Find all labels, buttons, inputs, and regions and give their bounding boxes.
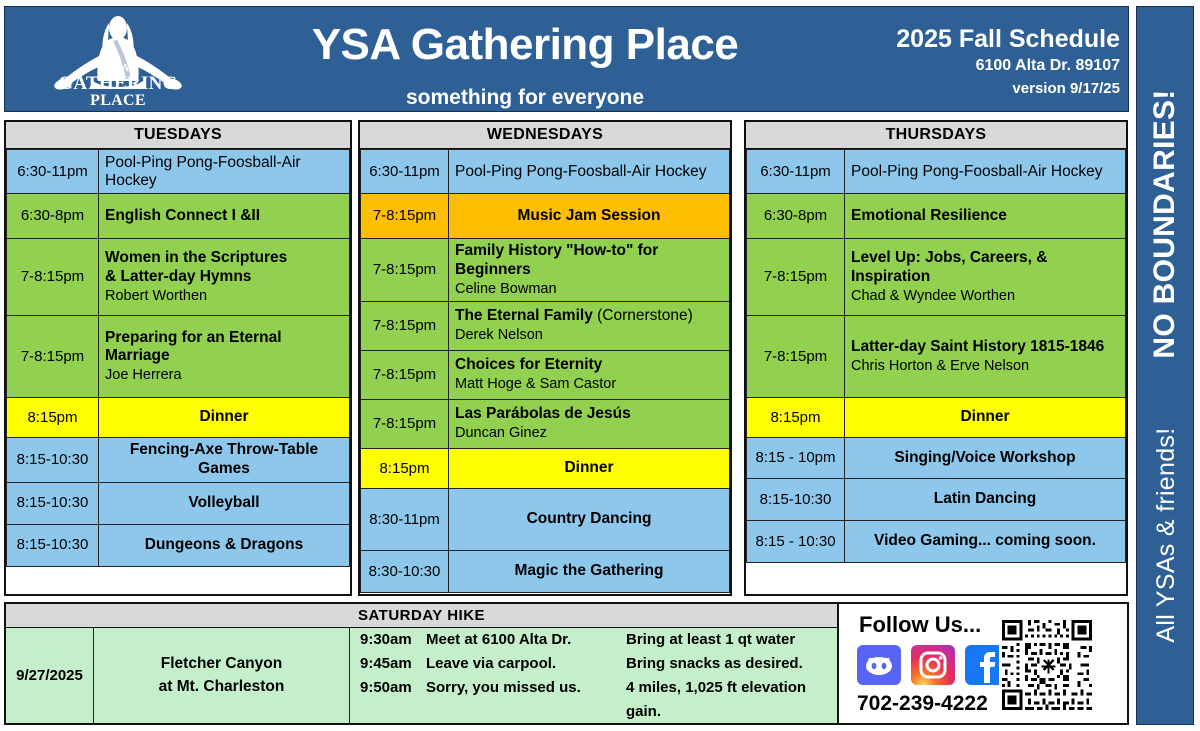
event-title: Volleyball bbox=[105, 494, 343, 513]
event-title: Country Dancing bbox=[455, 510, 723, 529]
side-banner: All YSAs & friends! NO BOUNDARIES! bbox=[1136, 6, 1194, 725]
event-title-suffix: (Cornerstone) bbox=[593, 307, 693, 324]
page-title: YSA Gathering Place bbox=[205, 20, 845, 70]
schedule-row: 8:30-10:30Magic the Gathering bbox=[361, 550, 730, 592]
event-title-line-2: & Latter-day Hymns bbox=[105, 268, 343, 287]
event-title: Fencing-Axe Throw-Table Games bbox=[105, 441, 343, 479]
event-title: Pool-Ping Pong-Foosball-Air Hockey bbox=[455, 163, 723, 181]
event-title: Video Gaming... coming soon. bbox=[851, 532, 1119, 551]
event-cell: Dinner bbox=[845, 398, 1126, 438]
event-title: Magic the Gathering bbox=[455, 562, 723, 581]
event-title: Pool-Ping Pong-Foosball-Air Hockey bbox=[851, 163, 1119, 181]
event-title: Family History "How-to" for Beginners bbox=[455, 242, 723, 280]
hike-time: 9:50am bbox=[360, 676, 426, 724]
schedule-table-thursdays: 6:30-11pmPool-Ping Pong-Foosball-Air Hoc… bbox=[746, 149, 1126, 563]
event-title: Latter-day Saint History 1815-1846 bbox=[851, 338, 1119, 357]
schedule-row: 8:15 - 10pmSinging/Voice Workshop bbox=[747, 438, 1126, 479]
event-cell: Magic the Gathering bbox=[449, 550, 730, 592]
time-cell: 8:15-10:30 bbox=[7, 524, 99, 566]
event-cell: Family History "How-to" for BeginnersCel… bbox=[449, 239, 730, 302]
event-title: Choices for Eternity bbox=[455, 356, 723, 375]
event-cell: Pool-Ping Pong-Foosball-Air Hockey bbox=[99, 150, 350, 194]
schedule-row: 7-8:15pmMusic Jam Session bbox=[361, 194, 730, 239]
event-title: Level Up: Jobs, Careers, & Inspiration bbox=[851, 249, 1119, 287]
schedule-row: 7-8:15pmLevel Up: Jobs, Careers, & Inspi… bbox=[747, 239, 1126, 316]
schedule-row: 6:30-8pmEnglish Connect I &II bbox=[7, 194, 350, 239]
schedule-row: 7-8:15pmWomen in the Scriptures& Latter-… bbox=[7, 239, 350, 316]
schedule-row: 7-8:15pmLatter-day Saint History 1815-18… bbox=[747, 316, 1126, 398]
event-presenter: Duncan Ginez bbox=[455, 424, 723, 442]
time-cell: 6:30-11pm bbox=[7, 150, 99, 194]
schedule-row: 8:15-10:30Fencing-Axe Throw-Table Games bbox=[7, 438, 350, 483]
time-cell: 8:15 - 10pm bbox=[747, 438, 845, 479]
side-banner-bold: NO BOUNDARIES! bbox=[1148, 89, 1181, 358]
hike-itinerary-row: 9:45amLeave via carpool.Bring snacks as … bbox=[360, 652, 837, 676]
hike-itinerary-row: 9:50amSorry, you missed us.4 miles, 1,02… bbox=[360, 676, 837, 724]
event-title: Women in the Scriptures bbox=[105, 249, 343, 268]
event-title: English Connect I &II bbox=[105, 207, 343, 226]
time-cell: 6:30-11pm bbox=[747, 150, 845, 194]
time-cell: 8:15pm bbox=[7, 398, 99, 438]
event-presenter: Robert Worthen bbox=[105, 287, 343, 305]
event-presenter: Matt Hoge & Sam Castor bbox=[455, 375, 723, 393]
schedule-row: 7-8:15pmThe Eternal Family (Cornerstone)… bbox=[361, 301, 730, 350]
event-title: The Eternal Family (Cornerstone) bbox=[455, 307, 723, 326]
event-presenter: Joe Herrera bbox=[105, 366, 343, 384]
event-cell: Fencing-Axe Throw-Table Games bbox=[99, 438, 350, 483]
hike-date: 9/27/2025 bbox=[6, 628, 94, 723]
schedule-row: 7-8:15pmLas Parábolas de JesúsDuncan Gin… bbox=[361, 399, 730, 448]
logo: YSA GATHERING PLACE bbox=[43, 11, 193, 111]
side-banner-text: All YSAs & friends! NO BOUNDARIES! bbox=[1148, 16, 1182, 716]
time-cell: 8:30-11pm bbox=[361, 488, 449, 550]
event-cell: Country Dancing bbox=[449, 488, 730, 550]
day-header: THURSDAYS bbox=[746, 122, 1126, 149]
event-cell: Singing/Voice Workshop bbox=[845, 438, 1126, 479]
event-title: Dinner bbox=[851, 408, 1119, 427]
time-cell: 6:30-11pm bbox=[361, 150, 449, 194]
time-cell: 7-8:15pm bbox=[361, 301, 449, 350]
event-cell: Dinner bbox=[449, 448, 730, 488]
event-cell: Latin Dancing bbox=[845, 479, 1126, 521]
day-column-tuesdays: TUESDAYS 6:30-11pmPool-Ping Pong-Foosbal… bbox=[4, 120, 352, 596]
event-title: Las Parábolas de Jesús bbox=[455, 405, 723, 424]
hike-time: 9:45am bbox=[360, 652, 426, 676]
time-cell: 6:30-8pm bbox=[7, 194, 99, 239]
schedule-row: 7-8:15pmChoices for EternityMatt Hoge & … bbox=[361, 350, 730, 399]
time-cell: 7-8:15pm bbox=[7, 316, 99, 398]
event-cell: Video Gaming... coming soon. bbox=[845, 521, 1126, 563]
follow-us-title: Follow Us... bbox=[859, 612, 981, 638]
schedule-row: 6:30-8pmEmotional Resilience bbox=[747, 194, 1126, 239]
event-cell: Music Jam Session bbox=[449, 194, 730, 239]
event-title: Dinner bbox=[105, 408, 343, 427]
bottom-section: SATURDAY HIKE 9/27/2025 Fletcher Canyon … bbox=[4, 602, 1129, 725]
schedule-row: 6:30-11pmPool-Ping Pong-Foosball-Air Hoc… bbox=[361, 150, 730, 194]
event-presenter: Chad & Wyndee Worthen bbox=[851, 287, 1119, 305]
time-cell: 6:30-8pm bbox=[747, 194, 845, 239]
hike-location-line-1: Fletcher Canyon bbox=[161, 653, 282, 675]
day-column-thursdays: THURSDAYS 6:30-11pmPool-Ping Pong-Foosba… bbox=[744, 120, 1128, 596]
qr-code-icon[interactable] bbox=[999, 617, 1095, 713]
event-presenter: Celine Bowman bbox=[455, 280, 723, 298]
time-cell: 7-8:15pm bbox=[747, 239, 845, 316]
event-presenter: Chris Horton & Erve Nelson bbox=[851, 357, 1119, 375]
schedule-row: 8:30-11pmCountry Dancing bbox=[361, 488, 730, 550]
schedule-row: 7-8:15pmPreparing for an Eternal Marriag… bbox=[7, 316, 350, 398]
hike-activity: Sorry, you missed us. bbox=[426, 676, 626, 724]
event-cell: Latter-day Saint History 1815-1846Chris … bbox=[845, 316, 1126, 398]
event-cell: The Eternal Family (Cornerstone)Derek Ne… bbox=[449, 301, 730, 350]
schedule-row: 6:30-11pmPool-Ping Pong-Foosball-Air Hoc… bbox=[7, 150, 350, 194]
saturday-hike-panel: SATURDAY HIKE 9/27/2025 Fletcher Canyon … bbox=[6, 604, 839, 723]
event-cell: English Connect I &II bbox=[99, 194, 350, 239]
hike-itinerary: 9:30amMeet at 6100 Alta Dr.Bring at leas… bbox=[350, 628, 837, 723]
discord-icon[interactable] bbox=[857, 645, 901, 685]
event-cell: Volleyball bbox=[99, 482, 350, 524]
hike-activity: Leave via carpool. bbox=[426, 652, 626, 676]
schedule-table-wednesdays: 6:30-11pmPool-Ping Pong-Foosball-Air Hoc… bbox=[360, 149, 730, 593]
time-cell: 7-8:15pm bbox=[361, 350, 449, 399]
social-links bbox=[857, 645, 1009, 685]
day-column-wednesdays: WEDNESDAYS 6:30-11pmPool-Ping Pong-Foosb… bbox=[358, 120, 732, 596]
version-label: version 9/17/25 bbox=[896, 78, 1120, 100]
hike-location: Fletcher Canyon at Mt. Charleston bbox=[94, 628, 350, 723]
schedule-row: 8:15-10:30Volleyball bbox=[7, 482, 350, 524]
logo-line-2: GATHERING bbox=[43, 74, 193, 93]
event-title: Singing/Voice Workshop bbox=[851, 449, 1119, 468]
header-banner: YSA GATHERING PLACE YSA Gathering Place … bbox=[4, 6, 1129, 112]
hike-activity: Meet at 6100 Alta Dr. bbox=[426, 628, 626, 652]
event-title: Music Jam Session bbox=[455, 207, 723, 226]
day-header: TUESDAYS bbox=[6, 122, 350, 149]
schedule-row: 7-8:15pmFamily History "How-to" for Begi… bbox=[361, 239, 730, 302]
time-cell: 7-8:15pm bbox=[361, 399, 449, 448]
time-cell: 8:30-10:30 bbox=[361, 550, 449, 592]
schedule-row: 8:15-10:30Latin Dancing bbox=[747, 479, 1126, 521]
saturday-hike-header: SATURDAY HIKE bbox=[6, 604, 837, 628]
event-cell: Preparing for an Eternal MarriageJoe Her… bbox=[99, 316, 350, 398]
header-meta: 2025 Fall Schedule 6100 Alta Dr. 89107 v… bbox=[896, 25, 1120, 100]
schedule-row: 8:15pmDinner bbox=[747, 398, 1126, 438]
event-cell: Choices for EternityMatt Hoge & Sam Cast… bbox=[449, 350, 730, 399]
event-cell: Pool-Ping Pong-Foosball-Air Hockey bbox=[845, 150, 1126, 194]
schedule-table-tuesdays: 6:30-11pmPool-Ping Pong-Foosball-Air Hoc… bbox=[6, 149, 350, 567]
time-cell: 8:15-10:30 bbox=[7, 438, 99, 483]
event-title: Emotional Resilience bbox=[851, 207, 1119, 226]
time-cell: 7-8:15pm bbox=[361, 239, 449, 302]
event-title: Latin Dancing bbox=[851, 490, 1119, 509]
logo-wordmark: YSA GATHERING PLACE bbox=[43, 63, 193, 109]
event-presenter: Derek Nelson bbox=[455, 326, 723, 344]
time-cell: 8:15-10:30 bbox=[747, 479, 845, 521]
follow-us-panel: Follow Us... bbox=[841, 604, 1127, 723]
page-subtitle: something for everyone bbox=[205, 86, 845, 110]
address-label: 6100 Alta Dr. 89107 bbox=[896, 54, 1120, 78]
event-cell: Level Up: Jobs, Careers, & InspirationCh… bbox=[845, 239, 1126, 316]
time-cell: 8:15pm bbox=[361, 448, 449, 488]
instagram-icon[interactable] bbox=[911, 645, 955, 685]
hike-note: 4 miles, 1,025 ft elevation gain. bbox=[626, 676, 837, 724]
event-title: Dungeons & Dragons bbox=[105, 536, 343, 555]
hike-itinerary-row: 9:30amMeet at 6100 Alta Dr.Bring at leas… bbox=[360, 628, 837, 652]
schedule-row: 6:30-11pmPool-Ping Pong-Foosball-Air Hoc… bbox=[747, 150, 1126, 194]
time-cell: 8:15 - 10:30 bbox=[747, 521, 845, 563]
time-cell: 7-8:15pm bbox=[747, 316, 845, 398]
event-title: Dinner bbox=[455, 459, 723, 478]
time-cell: 8:15pm bbox=[747, 398, 845, 438]
schedule-row: 8:15pmDinner bbox=[7, 398, 350, 438]
time-cell: 8:15-10:30 bbox=[7, 482, 99, 524]
event-cell: Pool-Ping Pong-Foosball-Air Hockey bbox=[449, 150, 730, 194]
event-cell: Women in the Scriptures& Latter-day Hymn… bbox=[99, 239, 350, 316]
event-cell: Dinner bbox=[99, 398, 350, 438]
event-cell: Dungeons & Dragons bbox=[99, 524, 350, 566]
logo-line-3: PLACE bbox=[43, 93, 193, 109]
event-cell: Emotional Resilience bbox=[845, 194, 1126, 239]
season-label: 2025 Fall Schedule bbox=[896, 25, 1120, 54]
event-title: Pool-Ping Pong-Foosball-Air Hockey bbox=[105, 154, 343, 190]
hike-time: 9:30am bbox=[360, 628, 426, 652]
schedule-row: 8:15-10:30Dungeons & Dragons bbox=[7, 524, 350, 566]
event-cell: Las Parábolas de JesúsDuncan Ginez bbox=[449, 399, 730, 448]
time-cell: 7-8:15pm bbox=[7, 239, 99, 316]
schedule-poster: YSA GATHERING PLACE YSA Gathering Place … bbox=[0, 0, 1200, 731]
schedule-row: 8:15 - 10:30Video Gaming... coming soon. bbox=[747, 521, 1126, 563]
phone-number: 702-239-4222 bbox=[857, 692, 988, 716]
event-title: Preparing for an Eternal Marriage bbox=[105, 329, 343, 367]
saturday-hike-row: 9/27/2025 Fletcher Canyon at Mt. Charles… bbox=[6, 628, 837, 723]
hike-location-line-2: at Mt. Charleston bbox=[159, 676, 285, 698]
hike-note: Bring snacks as desired. bbox=[626, 652, 837, 676]
time-cell: 7-8:15pm bbox=[361, 194, 449, 239]
hike-note: Bring at least 1 qt water bbox=[626, 628, 837, 652]
schedule-row: 8:15pmDinner bbox=[361, 448, 730, 488]
side-banner-light: All YSAs & friends! bbox=[1152, 427, 1180, 642]
day-header: WEDNESDAYS bbox=[360, 122, 730, 149]
